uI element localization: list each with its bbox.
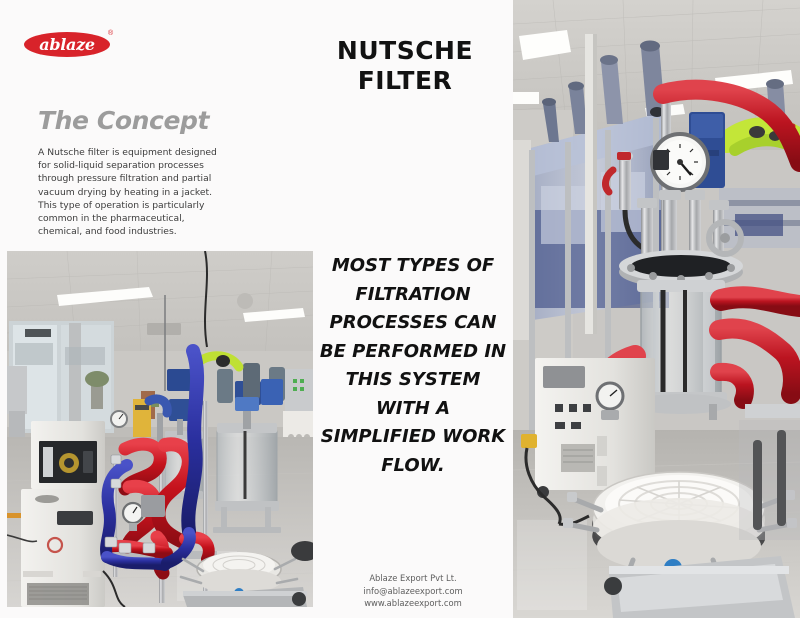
footer-contact-block: Ablaze Export Pvt Lt. info@ablazeexport.… <box>318 572 508 610</box>
logo-wordmark: ablaze <box>24 32 110 57</box>
footer-website: www.ablazeexport.com <box>318 597 508 610</box>
page-title-line-2: FILTER <box>300 66 510 96</box>
footer-email: info@ablazeexport.com <box>318 585 508 598</box>
marketing-statement: MOST TYPES OF FILTRATION PROCESSES CAN B… <box>318 252 508 480</box>
brochure-page: ablaze ® NUTSCHE FILTER The Concept A Nu… <box>0 0 800 618</box>
concept-body-text: A Nutsche filter is equipment designed f… <box>38 146 224 238</box>
photo-nutsche-filter-closeup <box>513 0 800 618</box>
concept-heading: The Concept <box>38 106 209 135</box>
page-title: NUTSCHE FILTER <box>300 36 510 96</box>
photo-lab-overview-graphic <box>7 251 313 607</box>
footer-company-name: Ablaze Export Pvt Lt. <box>318 572 508 585</box>
registered-trademark-icon: ® <box>108 30 113 37</box>
page-title-line-1: NUTSCHE <box>300 36 510 66</box>
ablaze-logo: ablaze ® <box>24 30 118 58</box>
photo-nutsche-filter-closeup-graphic <box>513 0 800 618</box>
photo-lab-overview <box>7 251 313 607</box>
